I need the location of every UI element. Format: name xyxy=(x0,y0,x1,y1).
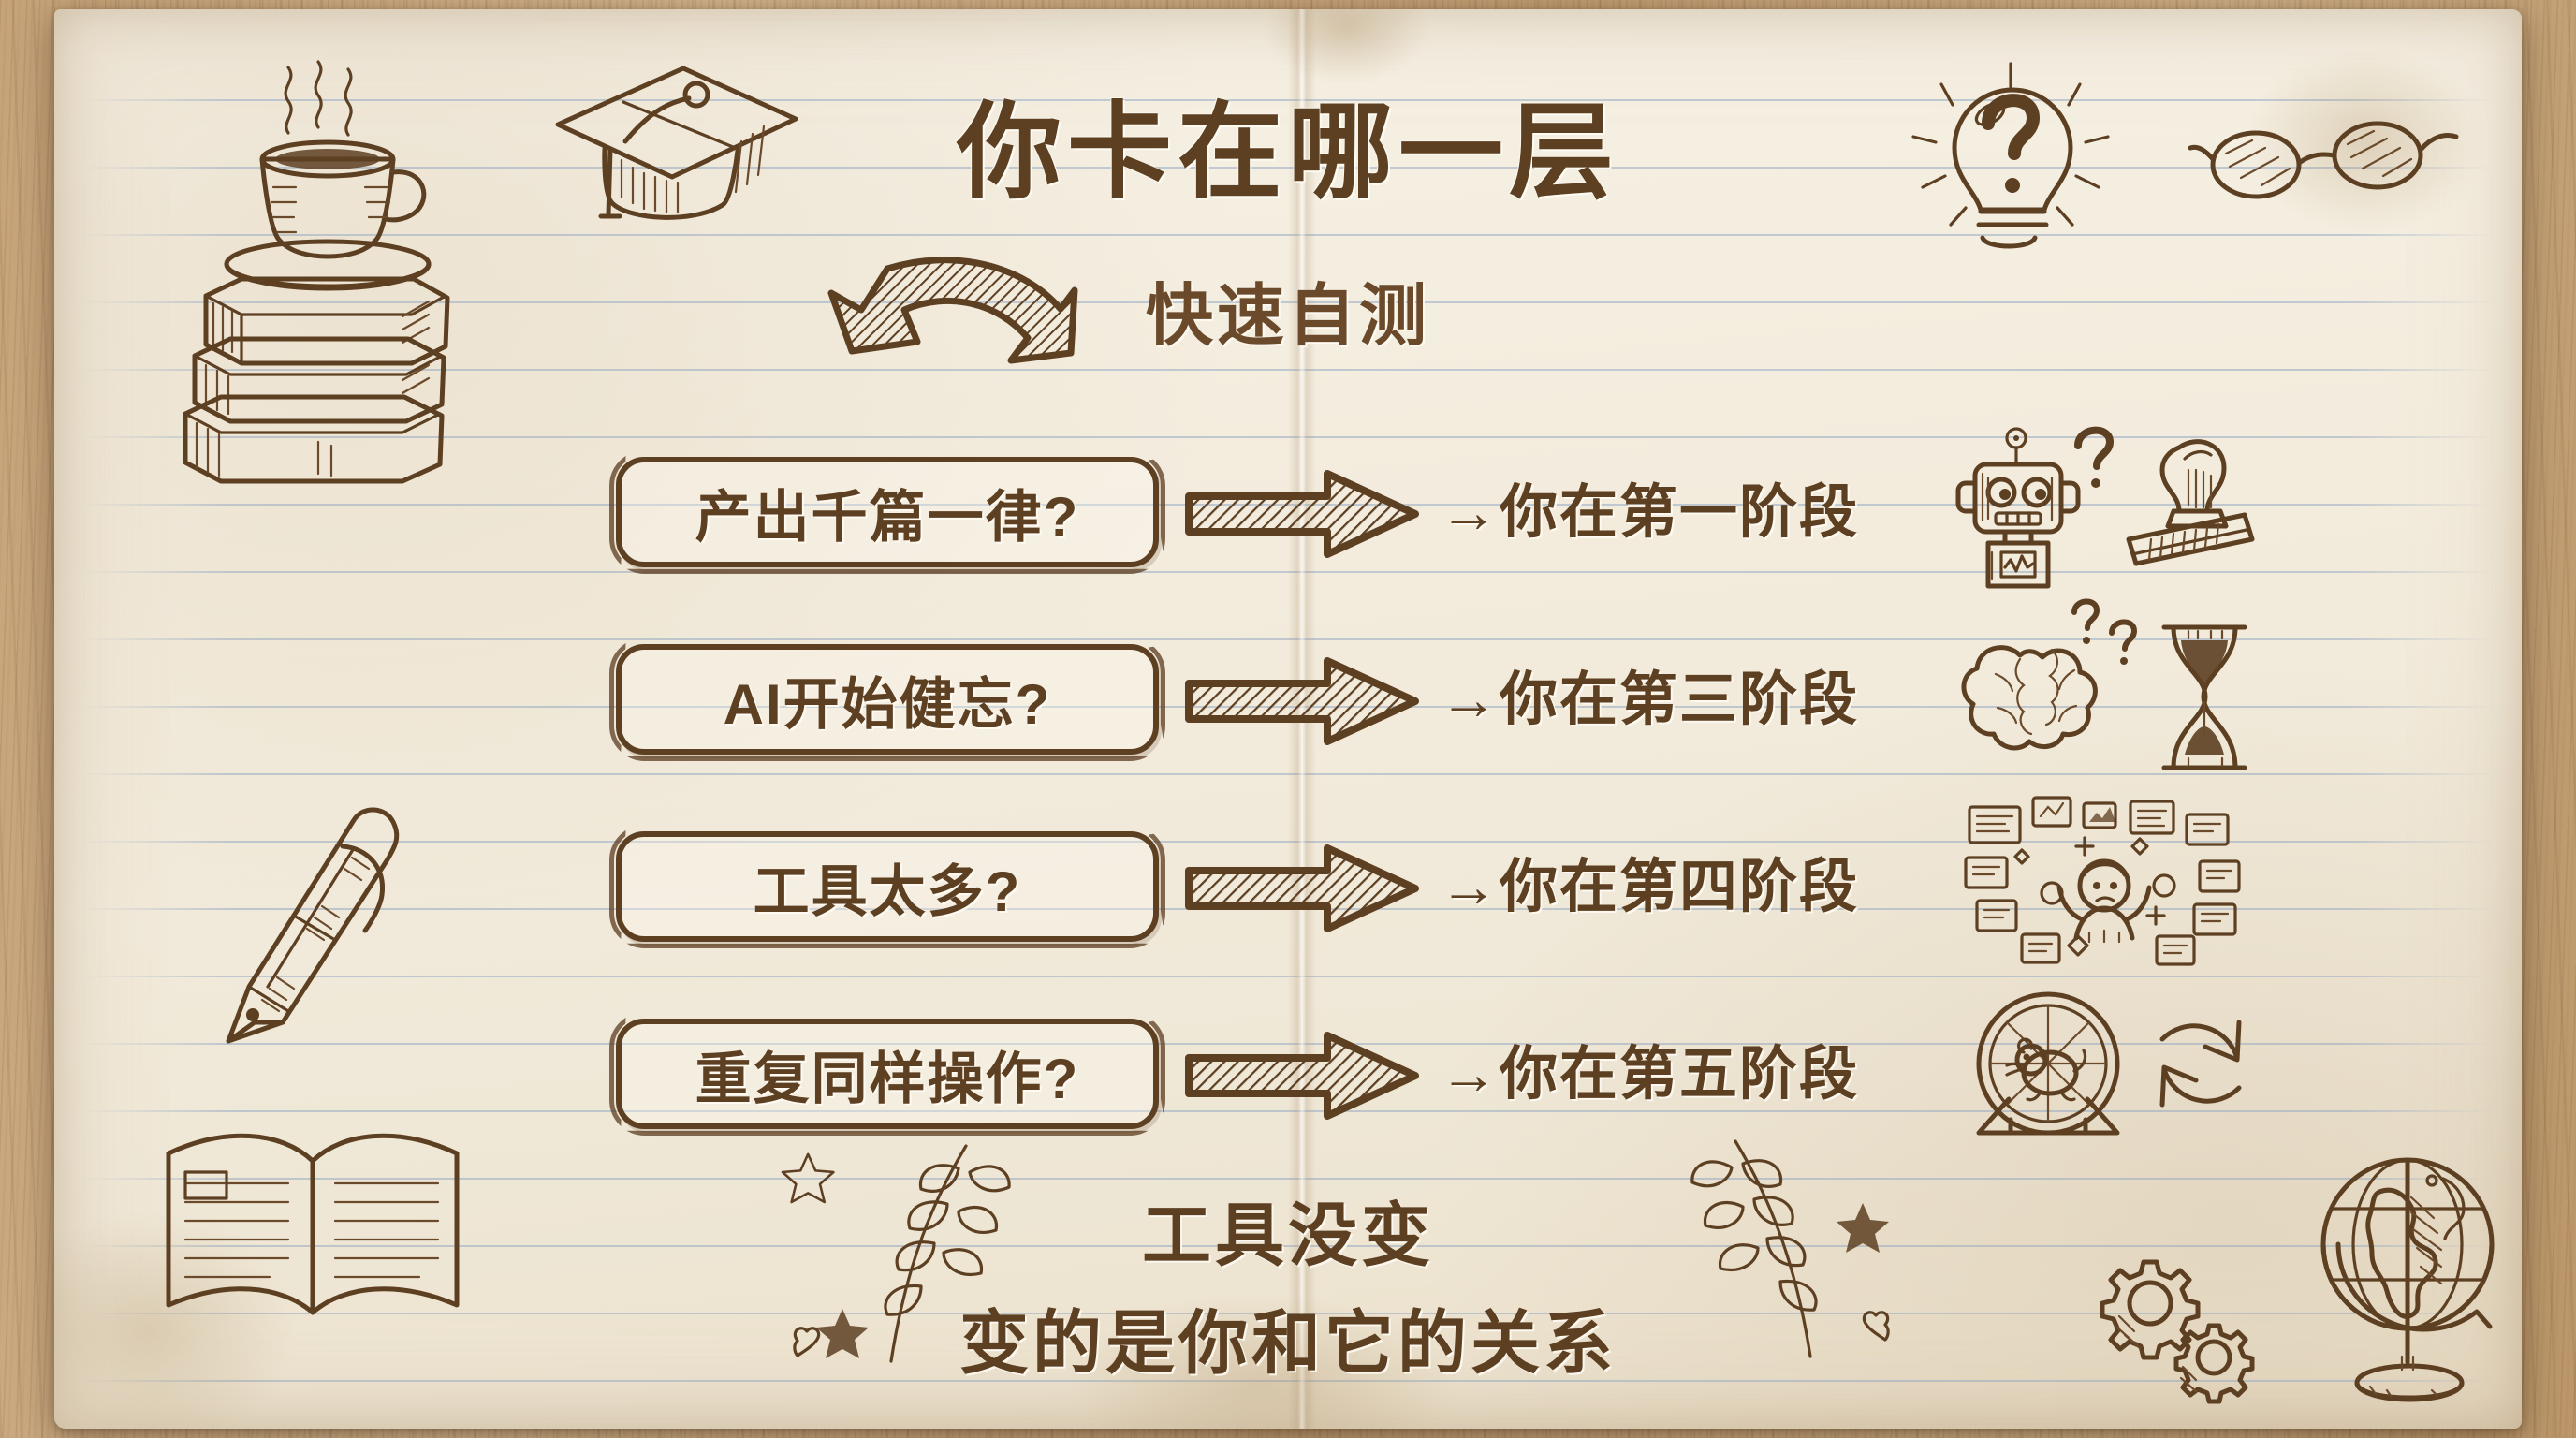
glasses-icon xyxy=(2188,110,2469,232)
fountain-pen-icon xyxy=(195,749,438,1058)
question-label: 工具太多? xyxy=(754,846,1022,928)
footer-line-1: 工具没变 xyxy=(54,1180,2522,1280)
row-icons-2 xyxy=(1964,609,2263,786)
row-icons-3 xyxy=(1964,796,2263,974)
lightbulb-question-icon xyxy=(1889,47,2132,262)
footer-message: 工具没变 变的是你和它的关系 xyxy=(54,1180,2522,1387)
right-arrow-icon xyxy=(1185,1034,1419,1118)
row-icons-4 xyxy=(1964,983,2263,1161)
stamp-icon xyxy=(2129,442,2252,564)
question-rows: 产出千篇一律? →你在第一阶段 xyxy=(616,449,2076,1198)
answer-label: →你在第五阶段 xyxy=(1440,1026,1859,1110)
answer-label: →你在第四阶段 xyxy=(1440,839,1859,923)
right-arrow-icon xyxy=(1185,659,1419,743)
question-label: AI开始健忘? xyxy=(724,659,1052,741)
question-box-1[interactable]: 产出千篇一律? xyxy=(616,457,1159,567)
overwhelmed-person-icon xyxy=(2059,861,2149,942)
hourglass-icon xyxy=(2164,627,2245,768)
brain-icon xyxy=(1964,601,2134,748)
recycle-loop-icon xyxy=(2162,1022,2239,1105)
robot-icon xyxy=(1958,429,2110,586)
question-box-2[interactable]: AI开始健忘? xyxy=(616,644,1159,755)
footer-line-2: 变的是你和它的关系 xyxy=(54,1287,2522,1387)
answer-label: →你在第一阶段 xyxy=(1440,464,1859,549)
question-box-3[interactable]: 工具太多? xyxy=(616,831,1159,942)
row-icons-1 xyxy=(1964,421,2263,599)
table-row: AI开始健忘? →你在第三阶段 xyxy=(616,637,2076,824)
right-arrow-icon xyxy=(1185,846,1419,931)
table-row: 产出千篇一律? →你在第一阶段 xyxy=(616,449,2076,637)
hamster-wheel-icon xyxy=(1979,994,2117,1133)
graduation-cap-icon xyxy=(541,51,812,239)
answer-label: →你在第三阶段 xyxy=(1440,652,1859,736)
table-row: 工具太多? →你在第四阶段 xyxy=(616,824,2076,1011)
right-arrow-icon xyxy=(1185,472,1419,556)
screens-icon xyxy=(1966,798,2239,964)
question-label: 产出千篇一律? xyxy=(695,472,1080,553)
desk-background: 你卡在哪一层 快速自测 xyxy=(0,0,2576,1438)
question-box-4[interactable]: 重复同样操作? xyxy=(616,1019,1159,1129)
question-label: 重复同样操作? xyxy=(695,1034,1080,1115)
notebook-page: 你卡在哪一层 快速自测 xyxy=(54,9,2522,1429)
curved-arrow-icon xyxy=(794,220,1075,407)
table-row: 重复同样操作? →你在第五阶段 xyxy=(616,1011,2076,1198)
coffee-cup-on-books-icon xyxy=(148,56,457,449)
